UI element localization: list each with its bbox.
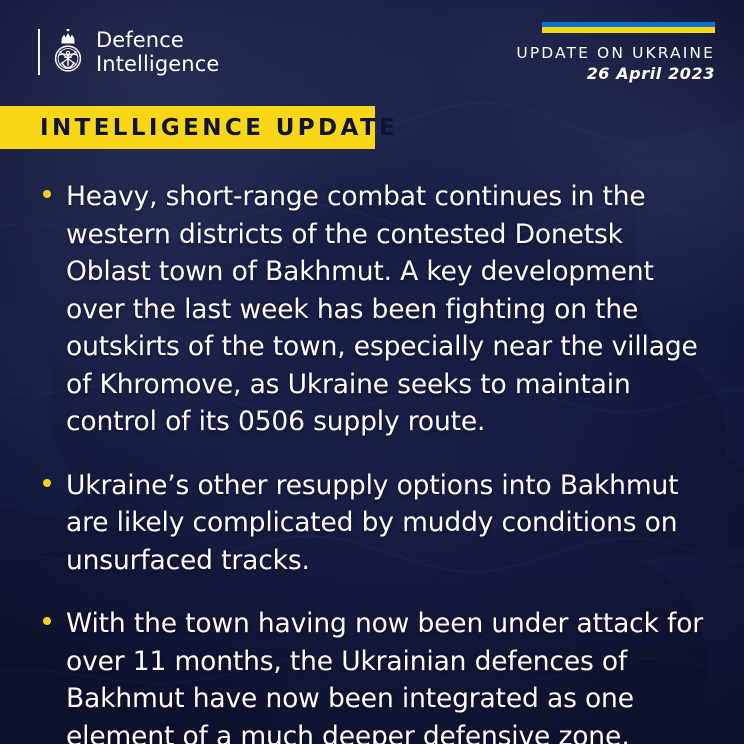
- bullet-text: Ukraine’s other resupply options into Ba…: [66, 467, 704, 580]
- ukraine-flag-bar-icon: [542, 22, 715, 33]
- intelligence-update-banner: INTELLIGENCE UPDATE: [0, 106, 375, 149]
- banner-label: INTELLIGENCE UPDATE: [0, 115, 398, 141]
- bullet-list: Heavy, short-range combat continues in t…: [38, 178, 704, 744]
- update-title: UPDATE ON UKRAINE: [516, 44, 715, 63]
- defence-intelligence-logo: Defence Intelligence: [38, 28, 219, 76]
- page-header: Defence Intelligence UPDATE ON UKRAINE 2…: [0, 0, 744, 100]
- logo-line-intelligence: Intelligence: [96, 52, 219, 76]
- update-header-block: UPDATE ON UKRAINE 26 April 2023: [516, 22, 715, 84]
- bullet-dot-icon: [43, 617, 51, 625]
- update-date: 26 April 2023: [516, 63, 715, 84]
- list-item: Ukraine’s other resupply options into Ba…: [38, 467, 704, 580]
- mod-tri-service-crest-icon: [51, 29, 85, 75]
- flag-stripe-yellow: [542, 27, 715, 33]
- list-item: With the town having now been under atta…: [38, 605, 704, 744]
- bullet-dot-icon: [43, 479, 51, 487]
- bullet-dot-icon: [43, 190, 51, 198]
- logo-divider-rule: [38, 29, 40, 75]
- logo-wordmark: Defence Intelligence: [96, 28, 219, 76]
- bullet-text: Heavy, short-range combat continues in t…: [66, 178, 704, 441]
- intelligence-update-graphic: Defence Intelligence UPDATE ON UKRAINE 2…: [0, 0, 744, 744]
- logo-line-defence: Defence: [96, 28, 219, 52]
- bullet-text: With the town having now been under atta…: [66, 605, 704, 744]
- list-item: Heavy, short-range combat continues in t…: [38, 178, 704, 441]
